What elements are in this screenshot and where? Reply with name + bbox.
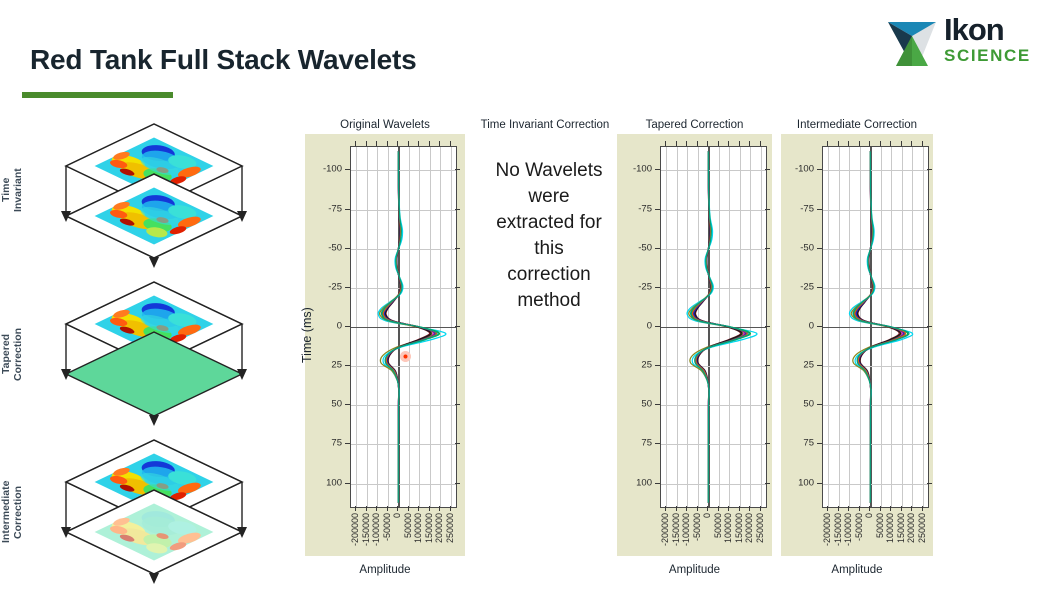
y-tick-mark xyxy=(655,483,660,484)
x-tick-mark xyxy=(749,506,750,511)
wavelet-trace xyxy=(386,152,430,503)
y-tick-mark xyxy=(655,365,660,366)
y-tick-label: 50 xyxy=(621,399,652,410)
x-tick-mark-top xyxy=(439,141,440,146)
y-tick-mark-right xyxy=(455,404,460,405)
x-tick-mark-top xyxy=(387,141,388,146)
y-tick-mark xyxy=(345,169,350,170)
x-tick-label: -50000 xyxy=(692,513,702,541)
x-tick-mark xyxy=(760,506,761,511)
x-tick-mark xyxy=(728,506,729,511)
x-tick-label: 100000 xyxy=(413,513,423,543)
x-tick-mark xyxy=(707,506,708,511)
x-tick-label: -50000 xyxy=(382,513,392,541)
diagram-tapered-correction xyxy=(46,276,272,434)
y-tick-label: -100 xyxy=(785,164,814,175)
x-tick-mark xyxy=(387,506,388,511)
correction-method-diagrams: TimeInvariant TaperedCorrection Intermed… xyxy=(0,118,272,598)
wavelet-trace xyxy=(693,152,745,503)
chart-title-3: Intermediate Correction xyxy=(781,119,933,131)
y-tick-mark-right xyxy=(765,169,770,170)
diagram-label-time-invariant: TimeInvariant xyxy=(0,140,26,240)
y-tick-mark xyxy=(655,404,660,405)
y-tick-mark xyxy=(817,169,822,170)
x-tick-mark-top xyxy=(922,141,923,146)
x-axis-label-3: Amplitude xyxy=(781,564,933,576)
wavelet-traces-0 xyxy=(351,147,456,507)
wavelet-trace xyxy=(383,152,436,503)
x-tick-label: 250000 xyxy=(445,513,455,543)
wavelet-trace xyxy=(381,152,438,503)
x-tick-mark xyxy=(922,506,923,511)
x-tick-label: -100000 xyxy=(371,513,381,546)
x-tick-mark-top xyxy=(450,141,451,146)
x-tick-label: 100000 xyxy=(723,513,733,543)
y-tick-label: 50 xyxy=(309,399,342,410)
x-tick-mark-top xyxy=(869,141,870,146)
x-tick-label: 50000 xyxy=(403,513,413,538)
y-tick-mark xyxy=(655,287,660,288)
x-tick-label: -150000 xyxy=(833,513,843,546)
x-tick-mark-top xyxy=(739,141,740,146)
ikon-logo-wordmark: Ikon SCIENCE xyxy=(944,14,1031,65)
y-tick-mark xyxy=(345,287,350,288)
x-tick-mark-top xyxy=(686,141,687,146)
x-tick-mark-top xyxy=(366,141,367,146)
x-tick-label: -150000 xyxy=(361,513,371,546)
wavelet-trace xyxy=(385,152,431,503)
wavelet-trace xyxy=(694,152,746,503)
y-tick-mark-right xyxy=(455,483,460,484)
x-tick-mark xyxy=(665,506,666,511)
y-tick-mark-right xyxy=(455,287,460,288)
x-tick-mark-top xyxy=(718,141,719,146)
x-axis-label-0: Amplitude xyxy=(305,564,465,576)
y-tick-mark xyxy=(817,483,822,484)
x-tick-label: 150000 xyxy=(424,513,434,543)
wavelet-trace xyxy=(689,152,743,503)
chart-title-2: Tapered Correction xyxy=(617,119,772,131)
x-tick-mark-top xyxy=(429,141,430,146)
x-tick-mark xyxy=(355,506,356,511)
y-tick-mark-right xyxy=(455,248,460,249)
chart-title-0: Original Wavelets xyxy=(305,119,465,131)
x-tick-label: -200000 xyxy=(350,513,360,546)
x-tick-label: -200000 xyxy=(660,513,670,546)
y-tick-label: 75 xyxy=(621,438,652,449)
x-tick-mark-top xyxy=(838,141,839,146)
wavelet-trace xyxy=(857,152,903,503)
y-tick-mark xyxy=(817,248,822,249)
chart-title-1: Time Invariant Correction xyxy=(470,119,620,131)
y-tick-label: 25 xyxy=(621,360,652,371)
y-tick-mark-right xyxy=(765,326,770,327)
wavelet-traces-3 xyxy=(823,147,928,507)
y-tick-mark-right xyxy=(765,365,770,366)
y-tick-mark-right xyxy=(927,365,932,366)
x-tick-label: 100000 xyxy=(885,513,895,543)
x-tick-mark xyxy=(408,506,409,511)
chart-plot-area-0[interactable] xyxy=(350,146,457,508)
x-tick-mark-top xyxy=(859,141,860,146)
x-tick-mark xyxy=(429,506,430,511)
wavelet-trace xyxy=(853,152,909,503)
x-tick-mark xyxy=(686,506,687,511)
page-title: Red Tank Full Stack Wavelets xyxy=(30,44,417,76)
y-tick-mark-right xyxy=(765,248,770,249)
x-tick-mark xyxy=(869,506,870,511)
x-tick-mark-top xyxy=(355,141,356,146)
y-tick-mark-right xyxy=(455,169,460,170)
x-tick-label: 200000 xyxy=(744,513,754,543)
y-tick-mark xyxy=(345,404,350,405)
wavelet-trace xyxy=(692,152,751,503)
wavelet-trace xyxy=(384,152,435,503)
wavelet-trace xyxy=(855,152,906,503)
x-tick-label: 250000 xyxy=(917,513,927,543)
x-tick-label: 150000 xyxy=(734,513,744,543)
x-tick-mark xyxy=(739,506,740,511)
wavelet-trace xyxy=(694,152,744,503)
wavelet-trace xyxy=(380,152,432,503)
wavelet-trace xyxy=(856,152,904,503)
y-tick-mark-right xyxy=(455,443,460,444)
x-tick-mark-top xyxy=(676,141,677,146)
y-tick-mark-right xyxy=(927,209,932,210)
x-tick-mark-top xyxy=(901,141,902,146)
y-tick-mark-right xyxy=(455,365,460,366)
x-tick-mark-top xyxy=(827,141,828,146)
y-tick-mark-right xyxy=(927,169,932,170)
y-tick-label: 0 xyxy=(621,321,652,332)
y-tick-label: 25 xyxy=(785,360,814,371)
y-tick-mark-right xyxy=(927,483,932,484)
y-tick-label: -50 xyxy=(309,242,342,253)
x-tick-mark-top xyxy=(707,141,708,146)
slide-root: Red Tank Full Stack Wavelets Ikon SCIENC… xyxy=(0,0,1055,600)
x-tick-mark-top xyxy=(697,141,698,146)
y-tick-label: -25 xyxy=(785,281,814,292)
diagram-label-tapered-correction: TaperedCorrection xyxy=(0,304,26,404)
x-tick-mark xyxy=(697,506,698,511)
y-tick-mark-right xyxy=(455,209,460,210)
wavelet-trace xyxy=(378,152,446,503)
x-tick-label: -100000 xyxy=(843,513,853,546)
y-tick-mark xyxy=(817,365,822,366)
diagram-time-invariant xyxy=(46,118,272,276)
x-tick-label: 0 xyxy=(392,513,402,518)
x-tick-mark-top xyxy=(376,141,377,146)
x-tick-mark xyxy=(418,506,419,511)
y-tick-mark xyxy=(655,248,660,249)
y-tick-mark-right xyxy=(927,443,932,444)
x-tick-mark xyxy=(859,506,860,511)
wavelet-trace xyxy=(695,152,740,503)
y-tick-label: 100 xyxy=(621,477,652,488)
x-tick-mark xyxy=(366,506,367,511)
x-tick-label: -100000 xyxy=(681,513,691,546)
x-tick-mark-top xyxy=(749,141,750,146)
x-tick-label: 50000 xyxy=(875,513,885,538)
wavelet-trace xyxy=(687,152,757,503)
x-tick-mark xyxy=(838,506,839,511)
y-tick-label: -50 xyxy=(785,242,814,253)
wavelet-trace xyxy=(695,152,742,503)
diagram-label-intermediate-correction: IntermediateCorrection xyxy=(0,458,26,566)
x-tick-mark xyxy=(450,506,451,511)
y-tick-label: 100 xyxy=(309,477,342,488)
x-tick-mark xyxy=(880,506,881,511)
wavelet-trace xyxy=(854,152,908,503)
x-tick-label: 0 xyxy=(702,513,712,518)
diagram-intermediate-correction xyxy=(46,434,272,592)
x-tick-label: 200000 xyxy=(434,513,444,543)
y-tick-mark-right xyxy=(765,209,770,210)
y-tick-mark xyxy=(817,404,822,405)
x-tick-label: 250000 xyxy=(755,513,765,543)
y-tick-mark xyxy=(655,443,660,444)
y-tick-label: 0 xyxy=(785,321,814,332)
x-tick-mark xyxy=(911,506,912,511)
x-tick-mark xyxy=(901,506,902,511)
y-tick-mark-right xyxy=(765,443,770,444)
y-tick-mark-right xyxy=(765,483,770,484)
y-tick-mark-right xyxy=(455,326,460,327)
x-tick-label: 0 xyxy=(864,513,874,518)
y-tick-mark-right xyxy=(927,404,932,405)
y-tick-mark xyxy=(655,209,660,210)
y-tick-mark xyxy=(345,365,350,366)
x-tick-mark xyxy=(718,506,719,511)
x-tick-mark xyxy=(439,506,440,511)
x-tick-mark-top xyxy=(880,141,881,146)
x-tick-mark-top xyxy=(397,141,398,146)
x-tick-label: 50000 xyxy=(713,513,723,538)
ikon-logo-mark-icon xyxy=(886,16,938,68)
x-tick-mark xyxy=(848,506,849,511)
wavelet-trace xyxy=(691,152,749,503)
y-tick-label: -100 xyxy=(309,164,342,175)
chart-plot-area-3[interactable] xyxy=(822,146,929,508)
wavelet-trace xyxy=(692,152,747,503)
x-tick-mark-top xyxy=(848,141,849,146)
x-tick-mark-top xyxy=(911,141,912,146)
no-wavelets-note: No Wavelets were extracted for this corr… xyxy=(470,158,628,314)
x-tick-label: 200000 xyxy=(906,513,916,543)
logo-secondary-text: SCIENCE xyxy=(944,46,1031,65)
x-tick-mark-top xyxy=(418,141,419,146)
y-tick-mark xyxy=(345,209,350,210)
y-tick-mark-right xyxy=(927,287,932,288)
y-tick-label: -75 xyxy=(309,203,342,214)
x-tick-mark xyxy=(890,506,891,511)
x-tick-mark xyxy=(676,506,677,511)
y-tick-mark xyxy=(345,248,350,249)
y-tick-label: 50 xyxy=(785,399,814,410)
y-tick-mark xyxy=(817,443,822,444)
y-tick-label: 75 xyxy=(309,438,342,449)
y-tick-mark xyxy=(345,326,350,327)
x-tick-label: 150000 xyxy=(896,513,906,543)
wavelet-traces-2 xyxy=(661,147,766,507)
wavelet-trace xyxy=(382,152,439,503)
y-tick-mark xyxy=(345,483,350,484)
x-axis-label-2: Amplitude xyxy=(617,564,772,576)
y-tick-mark xyxy=(345,443,350,444)
y-tick-label: -75 xyxy=(785,203,814,214)
x-tick-mark-top xyxy=(408,141,409,146)
x-tick-mark xyxy=(397,506,398,511)
title-underline-rule xyxy=(22,92,173,98)
chart-plot-area-2[interactable] xyxy=(660,146,767,508)
y-tick-mark xyxy=(655,326,660,327)
x-tick-label: -150000 xyxy=(671,513,681,546)
y-tick-mark xyxy=(817,287,822,288)
tapered-solid-layer xyxy=(66,332,242,416)
wavelet-trace xyxy=(385,152,434,503)
y-tick-mark xyxy=(817,209,822,210)
x-tick-mark xyxy=(827,506,828,511)
y-tick-mark-right xyxy=(927,248,932,249)
y-tick-mark xyxy=(817,326,822,327)
x-tick-mark-top xyxy=(760,141,761,146)
wavelet-trace xyxy=(384,152,435,503)
x-tick-mark-top xyxy=(890,141,891,146)
y-tick-label: 100 xyxy=(785,477,814,488)
x-tick-mark-top xyxy=(728,141,729,146)
y-tick-mark-right xyxy=(765,287,770,288)
y-axis-label: Time (ms) xyxy=(300,280,314,390)
x-tick-label: -50000 xyxy=(854,513,864,541)
y-tick-label: 75 xyxy=(785,438,814,449)
y-tick-mark-right xyxy=(765,404,770,405)
x-tick-mark xyxy=(376,506,377,511)
wavelet-trace xyxy=(849,152,912,503)
wavelet-trace xyxy=(856,152,904,503)
x-tick-mark-top xyxy=(665,141,666,146)
logo-primary-text: Ikon xyxy=(944,14,1031,46)
y-tick-mark-right xyxy=(927,326,932,327)
ikon-science-logo: Ikon SCIENCE xyxy=(886,14,1046,72)
x-tick-label: -200000 xyxy=(822,513,832,546)
y-tick-mark xyxy=(655,169,660,170)
